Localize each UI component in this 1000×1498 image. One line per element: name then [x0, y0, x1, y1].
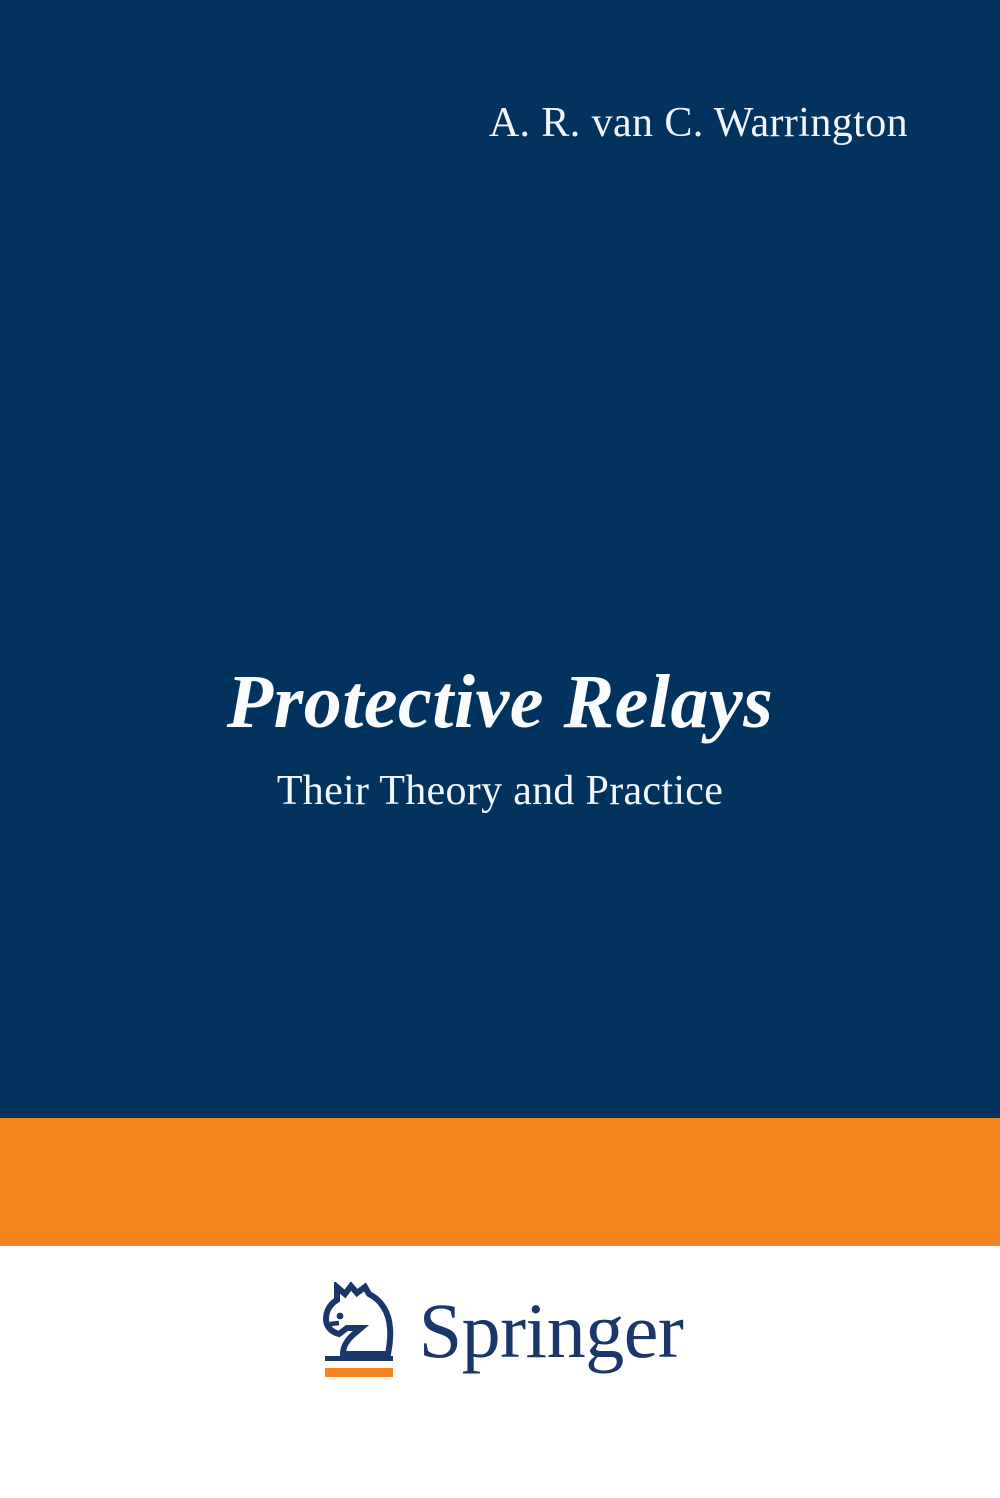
springer-knight-horse-icon [317, 1282, 401, 1378]
book-cover: A. R. van C. Warrington Protective Relay… [0, 0, 1000, 1498]
orange-accent-band [0, 1118, 1000, 1246]
author-name: A. R. van C. Warrington [489, 99, 908, 147]
publisher-logo: Springer [0, 1282, 1000, 1378]
navy-background-panel [0, 0, 1000, 1118]
book-subtitle: Their Theory and Practice [0, 767, 1000, 815]
springer-wordmark: Springer [419, 1292, 684, 1370]
book-title: Protective Relays [0, 659, 1000, 746]
